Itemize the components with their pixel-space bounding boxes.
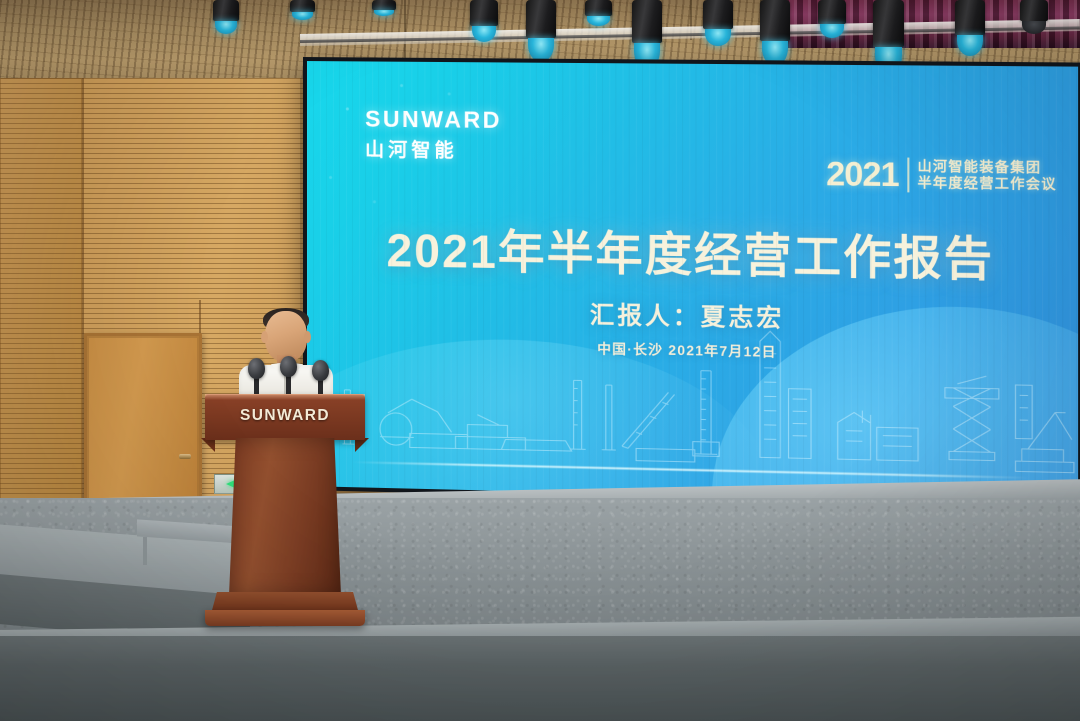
door-handle-icon[interactable] xyxy=(179,454,191,459)
speaker-ear-right xyxy=(304,331,311,343)
stage-light xyxy=(818,0,846,38)
speaker-ear-left xyxy=(261,331,268,343)
podium-brand-logo: SUNWARD xyxy=(205,407,365,425)
podium-shoulder-left xyxy=(201,438,215,452)
stage-light xyxy=(955,0,985,56)
microphone-head xyxy=(248,358,265,379)
presentation-title: 2021年半年度经营工作报告 xyxy=(307,213,1078,291)
brand-name-cn: 山河智能 xyxy=(365,135,502,164)
led-screen: SUNWARD 山河智能 2021 山河智能装备集团 半年度经营工作会议 202… xyxy=(307,61,1078,505)
stage-light xyxy=(213,0,239,34)
podium-column xyxy=(229,438,341,596)
stage-light xyxy=(1020,0,1048,34)
badge-line-2: 半年度经营工作会议 xyxy=(917,175,1056,194)
stage-light xyxy=(290,0,315,20)
conference-badge: 2021 山河智能装备集团 半年度经营工作会议 xyxy=(826,155,1057,197)
bench-leg xyxy=(143,537,147,565)
wall-panel xyxy=(0,78,82,533)
microphone-head xyxy=(312,360,329,381)
badge-text-block: 山河智能装备集团 半年度经营工作会议 xyxy=(917,158,1056,193)
podium-shoulder-right xyxy=(355,438,369,452)
badge-line-1: 山河智能装备集团 xyxy=(917,158,1056,176)
stage-light xyxy=(585,0,612,26)
stage-light xyxy=(760,0,790,66)
flower-row xyxy=(0,625,1080,721)
stage-light xyxy=(526,0,556,62)
podium: SUNWARD xyxy=(205,394,365,639)
stage-light xyxy=(470,0,498,42)
podium-top-highlight xyxy=(205,394,365,400)
brand-name-en: SUNWARD xyxy=(365,106,502,134)
microphone-head xyxy=(280,356,297,377)
podium-front-panel: SUNWARD xyxy=(205,394,365,440)
podium-base-lower xyxy=(205,610,365,626)
badge-year: 2021 xyxy=(826,155,898,195)
conference-stage-photo: SUNWARD 山河智能 2021 山河智能装备集团 半年度经营工作会议 202… xyxy=(0,0,1080,721)
screen-brand-logo: SUNWARD 山河智能 xyxy=(365,106,502,164)
stage-light xyxy=(703,0,733,46)
led-screen-frame: SUNWARD 山河智能 2021 山河智能装备集团 半年度经营工作会议 202… xyxy=(303,57,1080,509)
stage-light xyxy=(372,0,396,16)
badge-divider xyxy=(907,158,909,193)
